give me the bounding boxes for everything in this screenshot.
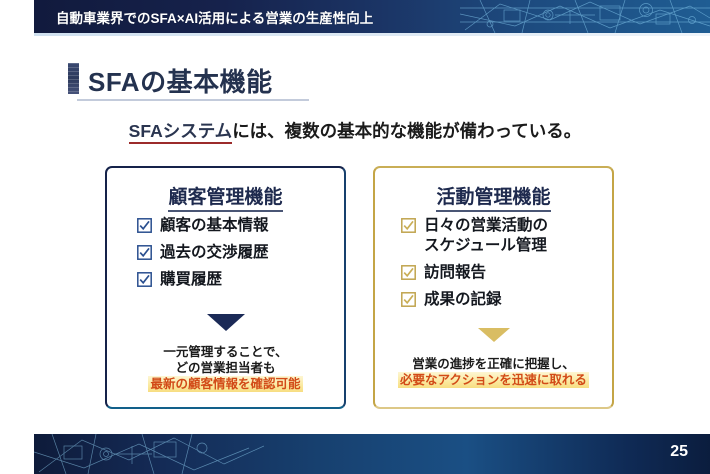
down-arrow-icon (478, 328, 510, 342)
checkbox-checked-icon (401, 218, 416, 233)
list-item: 購買履歴 (107, 270, 344, 290)
card-note-highlight: 最新の顧客情報を確認可能 (148, 376, 302, 392)
checkbox-checked-icon (401, 265, 416, 280)
list-item-label-line2: スケジュール管理 (424, 236, 548, 256)
card-title-text: 活動管理機能 (436, 187, 550, 212)
list-item: 訪問報告 (375, 263, 612, 283)
list-item-label: 訪問報告 (424, 263, 486, 283)
list-item-label: 顧客の基本情報 (160, 216, 269, 236)
lead-sentence: SFAシステムには、複数の基本的な機能が備わっている。 (0, 118, 710, 143)
page-title: SFAの基本機能 (88, 62, 273, 99)
card-title: 活動管理機能 (375, 182, 612, 209)
page-number: 25 (670, 443, 688, 461)
list-item-label: 過去の交渉履歴 (160, 243, 269, 263)
checkbox-checked-icon (401, 292, 416, 307)
list-item-label: 日々の営業活動の スケジュール管理 (424, 216, 548, 256)
card-note-line1: 一元管理することで、 (107, 344, 344, 360)
checklist: 顧客の基本情報 過去の交渉履歴 購買履歴 (107, 216, 344, 297)
card-note-line2: どの営業担当者も (107, 360, 344, 376)
footer-bar: 25 (34, 434, 710, 474)
list-item: 顧客の基本情報 (107, 216, 344, 236)
card-note: 一元管理することで、 どの営業担当者も 最新の顧客情報を確認可能 (107, 344, 344, 392)
checkbox-checked-icon (137, 218, 152, 233)
card-activity-management: 活動管理機能 日々の営業活動の スケジュール管理 訪問報告 (373, 166, 614, 409)
blueprint-pattern-icon (460, 0, 710, 33)
list-item: 日々の営業活動の スケジュール管理 (375, 216, 612, 256)
checkbox-checked-icon (137, 272, 152, 287)
checkbox-checked-icon (137, 245, 152, 260)
lead-rest: には、複数の基本的な機能が備わっている。 (232, 121, 581, 141)
slide: 自動車業界でのSFA×AI活用による営業の生産性向上 SFAの基本機能 SFAシ… (0, 0, 710, 474)
lead-highlight: SFAシステム (129, 121, 233, 144)
list-item-label: 成果の記録 (424, 290, 502, 310)
list-item: 過去の交渉履歴 (107, 243, 344, 263)
card-customer-management: 顧客管理機能 顧客の基本情報 過去の交渉履歴 (105, 166, 346, 409)
card-note-highlight: 必要なアクションを迅速に取れる (398, 372, 589, 388)
list-item: 成果の記録 (375, 290, 612, 310)
header-title: 自動車業界でのSFA×AI活用による営業の生産性向上 (56, 7, 373, 27)
checklist: 日々の営業活動の スケジュール管理 訪問報告 成果の記録 (375, 216, 612, 317)
blueprint-pattern-icon (34, 434, 264, 474)
card-note: 営業の進捗を正確に把握し、 必要なアクションを迅速に取れる (375, 356, 612, 388)
list-item-label-line1: 日々の営業活動の (424, 217, 548, 234)
section-accent-bar (68, 63, 79, 94)
header-underline (34, 33, 710, 36)
down-arrow-icon (207, 314, 245, 331)
list-item-label: 購買履歴 (160, 270, 222, 290)
card-title-text: 顧客管理機能 (168, 187, 282, 212)
section-title-underline (77, 99, 309, 101)
card-note-line1: 営業の進捗を正確に把握し、 (375, 356, 612, 372)
header-bar: 自動車業界でのSFA×AI活用による営業の生産性向上 (34, 0, 710, 33)
card-title: 顧客管理機能 (107, 182, 344, 209)
